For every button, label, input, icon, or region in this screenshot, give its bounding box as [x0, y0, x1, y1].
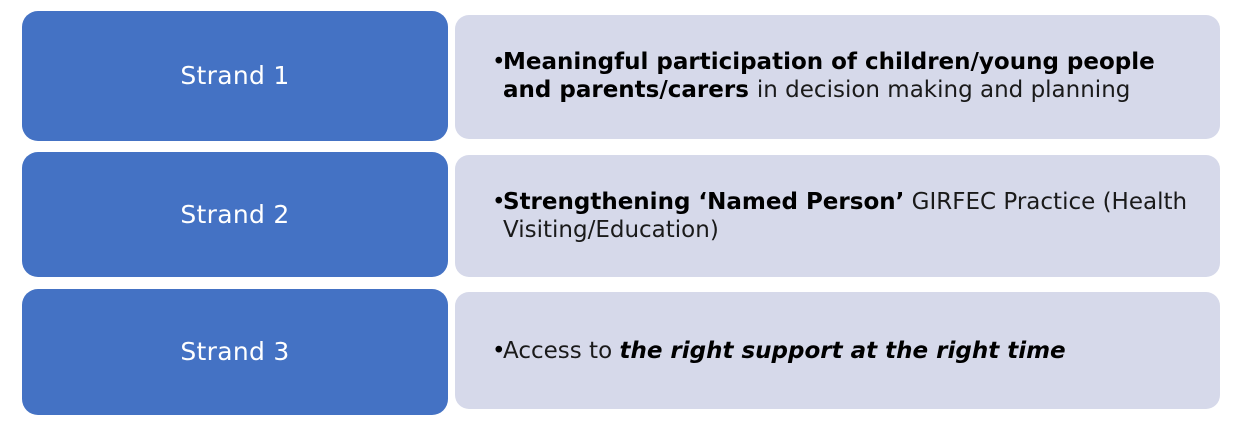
strand-label-block-2[interactable]: Strand 2	[22, 152, 448, 277]
strand-label-block-1[interactable]: Strand 1	[22, 11, 448, 141]
bullet-icon: •	[492, 48, 506, 76]
strand-description-block-3[interactable]: • Access to the right support at the rig…	[455, 292, 1220, 409]
description-text: Access to the right support at the right…	[503, 337, 1198, 365]
description-text: Strengthening ‘Named Person’ GIRFEC Prac…	[503, 188, 1198, 244]
description-segment-normal: in decision making and planning	[757, 77, 1130, 103]
bullet-icon: •	[492, 337, 506, 365]
strand-row: Strand 2 • Strengthening ‘Named Person’ …	[0, 152, 1241, 277]
strand-label-text: Strand 3	[180, 338, 289, 366]
strand-description-block-2[interactable]: • Strengthening ‘Named Person’ GIRFEC Pr…	[455, 155, 1220, 277]
strand-label-block-3[interactable]: Strand 3	[22, 289, 448, 415]
strand-description-block-1[interactable]: • Meaningful participation of children/y…	[455, 15, 1220, 139]
description-segment-bold: Strengthening ‘Named Person’	[503, 189, 904, 215]
description-text: Meaningful participation of children/you…	[503, 48, 1198, 104]
strand-row: Strand 3 • Access to the right support a…	[0, 289, 1241, 415]
bullet-icon: •	[492, 188, 506, 216]
description-inner: • Meaningful participation of children/y…	[455, 48, 1220, 104]
strand-label-text: Strand 1	[180, 62, 289, 90]
description-inner: • Strengthening ‘Named Person’ GIRFEC Pr…	[455, 188, 1220, 244]
strand-label-text: Strand 2	[180, 201, 289, 229]
description-inner: • Access to the right support at the rig…	[455, 337, 1220, 365]
description-segment-bold-italic: the right support at the right time	[619, 338, 1065, 364]
strand-row: Strand 1 • Meaningful participation of c…	[0, 11, 1241, 141]
strands-diagram: Strand 1 • Meaningful participation of c…	[0, 0, 1241, 430]
description-segment-normal: Access to	[503, 338, 619, 364]
